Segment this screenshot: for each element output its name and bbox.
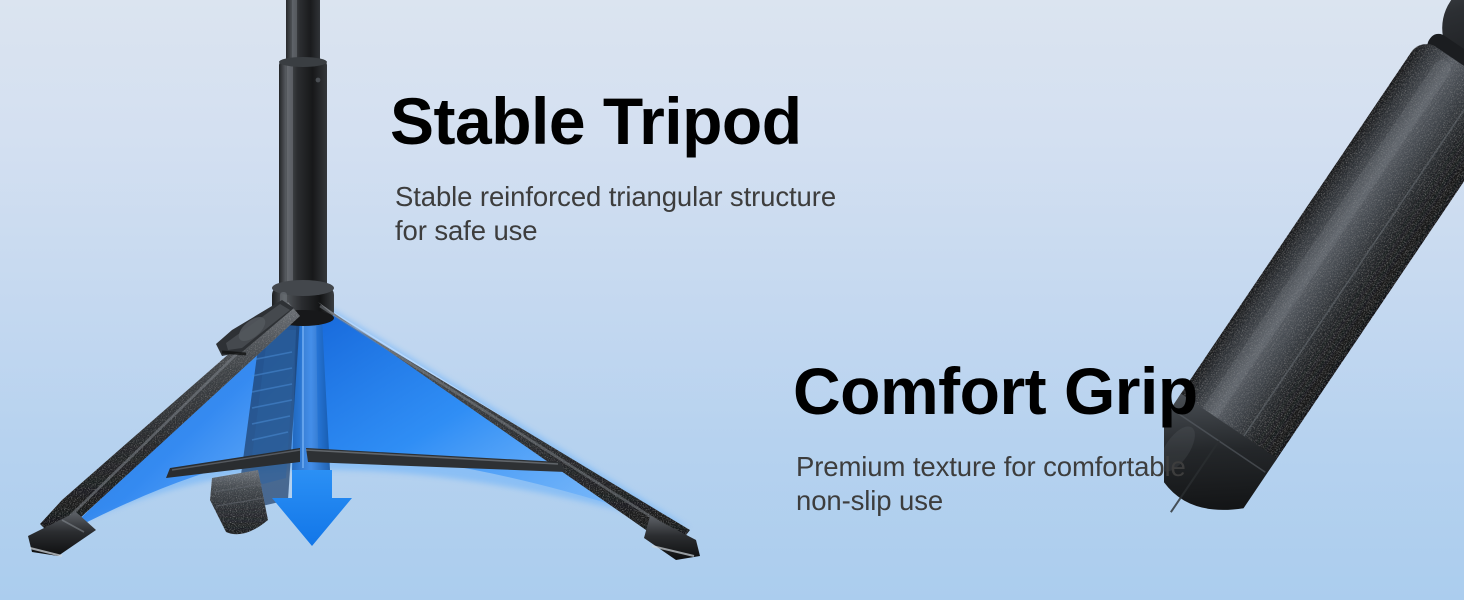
- feature-subtext: Stable reinforced triangular structure f…: [395, 180, 836, 248]
- feature-banner: Stable Tripod Stable reinforced triangul…: [0, 0, 1464, 600]
- tripod-lock-lever: [216, 300, 294, 356]
- tripod-leg-right: [318, 302, 700, 560]
- grip-hinge-knuckle: [1420, 0, 1464, 105]
- tripod-rear-leg: [210, 318, 300, 534]
- tripod-leg-left: [28, 302, 300, 556]
- tripod-cross-brace: [166, 448, 566, 478]
- feature-headline: Stable Tripod: [390, 88, 836, 154]
- downward-force-arrow: [272, 470, 352, 546]
- grip-assembly: [1164, 0, 1464, 545]
- tripod-center-pole: [279, 0, 327, 305]
- feature-headline: Comfort Grip: [793, 358, 1198, 424]
- stability-overlay: [40, 300, 690, 540]
- tripod-hub: [272, 280, 334, 326]
- feature-subtext: Premium texture for comfortable non-slip…: [796, 450, 1198, 518]
- feature-block-stable-tripod: Stable Tripod Stable reinforced triangul…: [390, 88, 836, 248]
- handle-grip-photo: [1164, 0, 1464, 600]
- feature-block-comfort-grip: Comfort Grip Premium texture for comfort…: [793, 358, 1198, 518]
